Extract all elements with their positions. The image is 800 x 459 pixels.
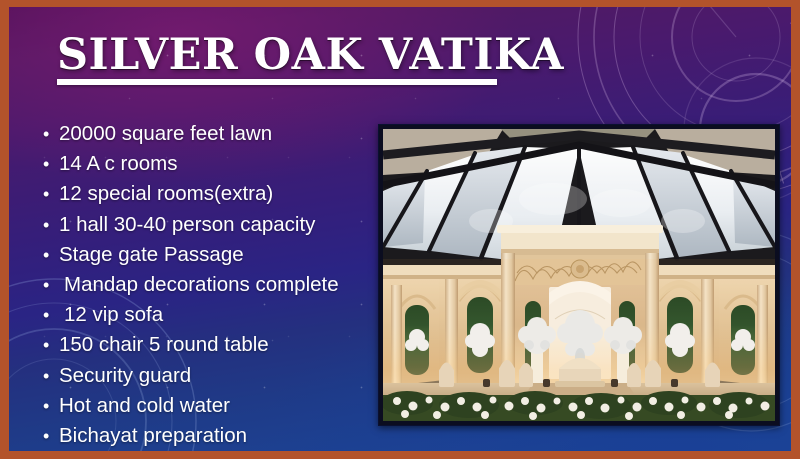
bullet-dot-icon: • — [43, 331, 59, 360]
list-item: •12 special rooms(extra) — [43, 179, 383, 209]
venue-photo — [383, 129, 775, 421]
list-item-label: 1 hall 30-40 person capacity — [59, 210, 315, 239]
feature-bullet-list: •20000 square feet lawn•14 A c rooms•12 … — [43, 119, 383, 451]
list-item: •Bichayat preparation — [43, 421, 383, 451]
list-item-label: 12 vip sofa — [59, 300, 163, 329]
list-item-label: Bichayat preparation — [59, 421, 247, 450]
list-item: •1 hall 30-40 person capacity — [43, 210, 383, 240]
list-item: •Hot and cold water — [43, 391, 383, 421]
list-item: •150 chair 5 round table — [43, 330, 383, 360]
list-item: •14 A c rooms — [43, 149, 383, 179]
list-item-label: Stage gate Passage — [59, 240, 244, 269]
bullet-dot-icon: • — [43, 301, 59, 330]
bullet-dot-icon: • — [43, 180, 59, 209]
bullet-dot-icon: • — [43, 211, 59, 240]
list-item-label: Mandap decorations complete — [59, 270, 339, 299]
list-item: •Stage gate Passage — [43, 240, 383, 270]
list-item: •12 vip sofa — [43, 300, 383, 330]
list-item-label: 14 A c rooms — [59, 149, 178, 178]
bullet-dot-icon: • — [43, 271, 59, 300]
list-item: •Mandap decorations complete — [43, 270, 383, 300]
list-item-label: 150 chair 5 round table — [59, 330, 269, 359]
mandap-stage-illustration — [383, 129, 775, 421]
venue-photo-frame — [378, 124, 780, 426]
list-item: •20000 square feet lawn — [43, 119, 383, 149]
bullet-dot-icon: • — [43, 392, 59, 421]
bullet-dot-icon: • — [43, 241, 59, 270]
page-title: SILVER OAK VATIKA — [57, 33, 527, 77]
title-block: SILVER OAK VATIKA — [57, 33, 527, 85]
list-item-label: Security guard — [59, 361, 191, 390]
list-item: •Security guard — [43, 361, 383, 391]
slide-root: SILVER OAK VATIKA •20000 square feet law… — [0, 0, 800, 459]
list-item-label: 20000 square feet lawn — [59, 119, 272, 148]
list-item-label: Hot and cold water — [59, 391, 230, 420]
slide-outer-border: SILVER OAK VATIKA •20000 square feet law… — [0, 0, 800, 459]
slide-canvas: SILVER OAK VATIKA •20000 square feet law… — [9, 7, 791, 451]
bullet-dot-icon: • — [43, 362, 59, 391]
bullet-dot-icon: • — [43, 120, 59, 149]
list-item-label: 12 special rooms(extra) — [59, 179, 273, 208]
bullet-dot-icon: • — [43, 150, 59, 179]
bullet-dot-icon: • — [43, 422, 59, 451]
